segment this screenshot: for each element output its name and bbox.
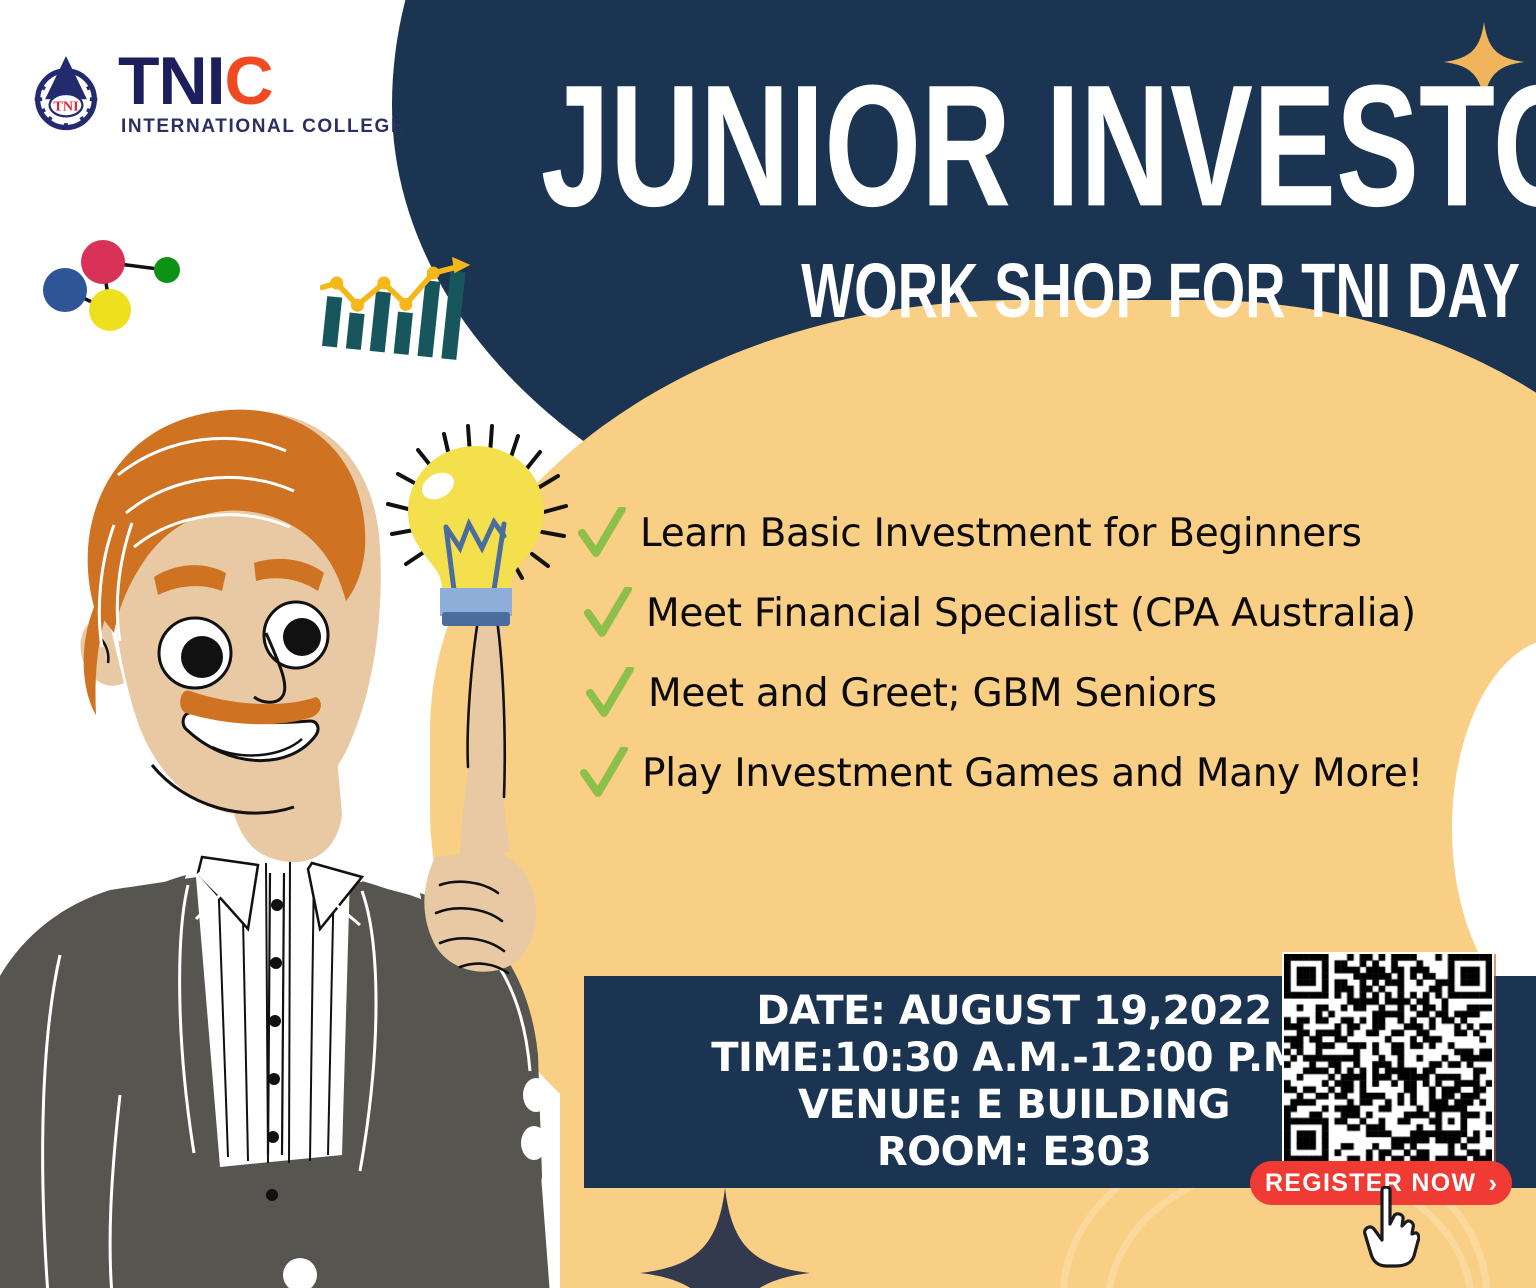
tni-seal-icon: TNI xyxy=(28,53,104,135)
qr-code-image xyxy=(1284,954,1492,1162)
list-item: Meet Financial Specialist (CPA Australia… xyxy=(584,585,1528,641)
header: JUNIOR INVESTOR WORK SHOP FOR TNI DAY xyxy=(560,62,1520,308)
four-point-star-icon xyxy=(640,1188,810,1288)
chevron-right-icon: › xyxy=(1488,1170,1497,1196)
feature-list: Learn Basic Investment for Beginners Mee… xyxy=(578,505,1528,825)
list-item: Learn Basic Investment for Beginners xyxy=(578,505,1528,561)
list-item-label: Learn Basic Investment for Beginners xyxy=(640,511,1362,556)
poster-canvas: TNI TNIC INTERNATIONAL COLLEGE xyxy=(0,0,1536,1288)
brand-name-prefix: TNI xyxy=(118,43,225,119)
list-item-label: Meet Financial Specialist (CPA Australia… xyxy=(646,591,1416,636)
brand-name: TNIC xyxy=(118,50,405,113)
event-date: DATE: AUGUST 19,2022 xyxy=(756,988,1271,1035)
pointing-hand-cursor-icon xyxy=(1362,1186,1420,1268)
list-item: Play Investment Games and Many More! xyxy=(580,745,1528,801)
bar-chart-growth-icon xyxy=(320,252,485,364)
check-icon xyxy=(578,507,626,559)
list-item-label: Play Investment Games and Many More! xyxy=(642,751,1423,796)
event-time: TIME:10:30 A.M.-12:00 P.M. xyxy=(711,1035,1316,1082)
page-title: JUNIOR INVESTOR xyxy=(541,62,1520,230)
brand-logo: TNI TNIC INTERNATIONAL COLLEGE xyxy=(28,50,405,138)
check-icon xyxy=(584,587,632,639)
check-icon xyxy=(586,667,634,719)
brand-subtitle: INTERNATIONAL COLLEGE xyxy=(121,116,405,138)
event-venue: VENUE: E BUILDING xyxy=(798,1082,1230,1129)
network-nodes-icon xyxy=(34,222,244,342)
list-item-label: Meet and Greet; GBM Seniors xyxy=(648,671,1217,716)
event-room: ROOM: E303 xyxy=(877,1129,1151,1176)
lightbulb-idea-icon xyxy=(372,412,577,652)
qr-code[interactable] xyxy=(1282,952,1494,1164)
page-subtitle: WORK SHOP FOR TNI DAY xyxy=(560,252,1520,329)
check-icon xyxy=(580,747,628,799)
seal-label: TNI xyxy=(53,98,79,114)
list-item: Meet and Greet; GBM Seniors xyxy=(586,665,1528,721)
brand-name-accent: C xyxy=(225,43,273,119)
